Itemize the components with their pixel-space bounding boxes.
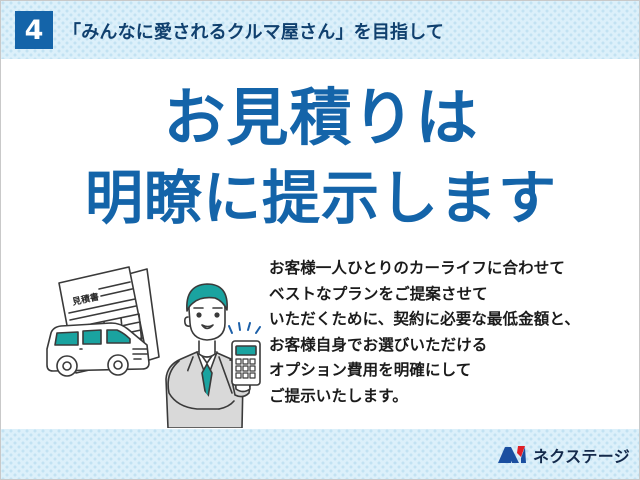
- body-line: お客様一人ひとりのカーライフに合わせて: [269, 256, 640, 282]
- headline-line-2: 明瞭に提示します: [1, 169, 640, 227]
- step-number-badge: 4: [15, 11, 53, 49]
- sparkle-icon: [229, 323, 260, 333]
- body-line: いただくために、契約に必要な最低金額と、: [269, 307, 640, 333]
- nexstage-logo-icon: [497, 444, 527, 466]
- body-copy: お客様一人ひとりのカーライフに合わせて ベストなプランをご提案させて いただくた…: [269, 256, 640, 409]
- salesman-illustration: 見積書: [29, 253, 269, 428]
- nexstage-logo-text: ネクステージ: [533, 443, 630, 467]
- calculator-illustration: [232, 341, 260, 385]
- headline-line-1: お見積りは: [1, 87, 640, 149]
- body-line: オプション費用を明確にして: [269, 358, 640, 384]
- nexstage-logo: ネクステージ: [497, 443, 630, 467]
- body-line: ベストなプランをご提案させて: [269, 282, 640, 308]
- body-line: ご提示いたします。: [269, 384, 640, 410]
- header-title: 「みんなに愛されるクルマ屋さん」を目指して: [63, 18, 444, 44]
- body-line: お客様自身でお選びいただける: [269, 333, 640, 359]
- promo-banner: 4 「みんなに愛されるクルマ屋さん」を目指して お見積りは 明瞭に提示します 見…: [0, 0, 640, 480]
